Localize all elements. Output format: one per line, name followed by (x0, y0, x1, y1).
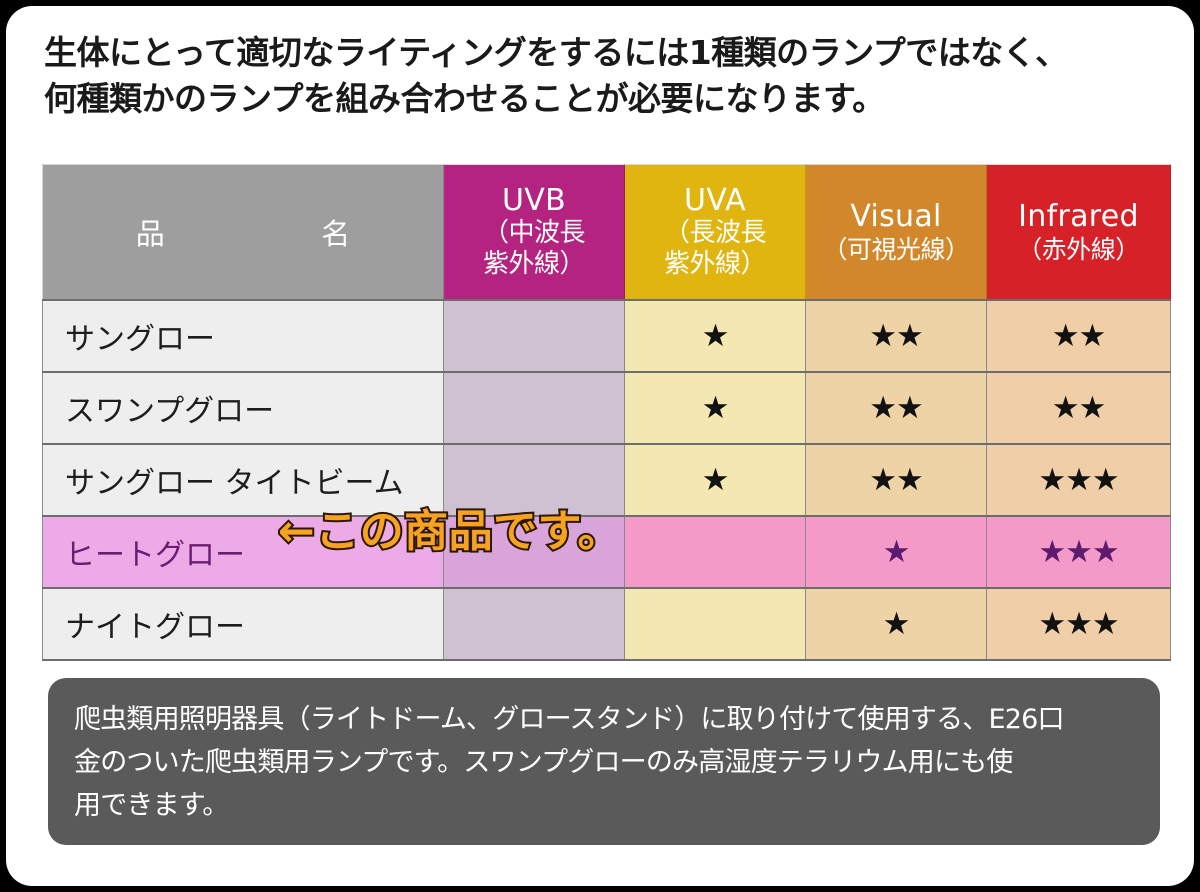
uva-rating-cell (625, 588, 806, 660)
header-product-name: 品 名 (43, 165, 444, 301)
infrared-rating-cell: ★★★ (987, 516, 1171, 588)
header-uvb: UVB （中波長 紫外線） (444, 165, 625, 301)
header-uva-en: UVA (625, 184, 805, 218)
comparison-table-wrapper: 品 名 UVB （中波長 紫外線） UVA （長波長 紫外線） (42, 164, 1170, 661)
uvb-rating-cell (444, 444, 625, 516)
intro-line-2: 何種類かのランプを組み合わせることが必要になります。 (44, 76, 1074, 122)
header-row: 品 名 UVB （中波長 紫外線） UVA （長波長 紫外線） (43, 165, 1171, 301)
content-panel: 生体にとって適切なライティングをするには1種類のランプではなく、 何種類かのラン… (6, 6, 1194, 886)
header-uvb-jp-2: 紫外線） (444, 249, 624, 280)
visual-rating-cell: ★★ (806, 372, 987, 444)
star-rating: ★★★ (1038, 606, 1118, 642)
uva-rating-cell: ★ (625, 372, 806, 444)
visual-rating-cell: ★ (806, 516, 987, 588)
description-box: 爬虫類用照明器具（ライトドーム、グロースタンド）に取り付けて使用する、E26口 … (48, 678, 1160, 845)
product-name-cell: サングロー (43, 300, 444, 372)
header-product-name-label: 品 名 (72, 211, 414, 253)
header-infrared-en: Infrared (987, 200, 1170, 234)
infrared-rating-cell: ★★ (987, 372, 1171, 444)
star-rating: ★★ (1052, 390, 1106, 426)
visual-rating-cell: ★ (806, 588, 987, 660)
visual-rating-cell: ★★ (806, 300, 987, 372)
intro-line-1: 生体にとって適切なライティングをするには1種類のランプではなく、 (44, 30, 1074, 76)
description-line-1: 爬虫類用照明器具（ライトドーム、グロースタンド）に取り付けて使用する、E26口 (74, 698, 1134, 741)
uva-rating-cell: ★ (625, 444, 806, 516)
header-visual: Visual （可視光線） (806, 165, 987, 301)
uva-rating-cell: ★ (625, 300, 806, 372)
star-rating: ★★ (869, 390, 923, 426)
product-name-cell: スワンプグロー (43, 372, 444, 444)
uvb-rating-cell (444, 588, 625, 660)
infrared-rating-cell: ★★★ (987, 588, 1171, 660)
uva-rating-cell (625, 516, 806, 588)
product-name-cell: ナイトグロー (43, 588, 444, 660)
uvb-rating-cell (444, 300, 625, 372)
image-frame: 生体にとって適切なライティングをするには1種類のランプではなく、 何種類かのラン… (0, 0, 1200, 892)
header-uva-jp-2: 紫外線） (625, 249, 805, 280)
intro-text: 生体にとって適切なライティングをするには1種類のランプではなく、 何種類かのラン… (44, 30, 1074, 122)
product-name-cell: サングロー タイトビーム (43, 444, 444, 516)
star-rating: ★★ (869, 318, 923, 354)
uvb-rating-cell (444, 516, 625, 588)
header-uva: UVA （長波長 紫外線） (625, 165, 806, 301)
star-rating: ★ (883, 534, 910, 570)
comparison-table: 品 名 UVB （中波長 紫外線） UVA （長波長 紫外線） (42, 164, 1171, 661)
header-uvb-en: UVB (444, 184, 624, 218)
header-visual-jp-1: （可視光線） (806, 234, 986, 265)
table-row: ナイトグロー★★★★ (43, 588, 1171, 660)
table-row: スワンプグロー★★★★★ (43, 372, 1171, 444)
table-body: サングロー★★★★★スワンプグロー★★★★★サングロー タイトビーム★★★★★★… (43, 300, 1171, 660)
table-row: ヒートグロー★★★★ (43, 516, 1171, 588)
star-rating: ★ (702, 390, 729, 426)
infrared-rating-cell: ★★ (987, 300, 1171, 372)
header-infrared: Infrared （赤外線） (987, 165, 1171, 301)
header-visual-en: Visual (806, 200, 986, 234)
star-rating: ★★ (869, 462, 923, 498)
header-infrared-jp-1: （赤外線） (987, 234, 1170, 265)
star-rating: ★★★ (1038, 462, 1118, 498)
header-uvb-jp-1: （中波長 (444, 218, 624, 249)
table-row: サングロー タイトビーム★★★★★★ (43, 444, 1171, 516)
table-row: サングロー★★★★★ (43, 300, 1171, 372)
star-rating: ★★★ (1038, 534, 1118, 570)
header-uva-jp-1: （長波長 (625, 218, 805, 249)
star-rating: ★ (702, 318, 729, 354)
uvb-rating-cell (444, 372, 625, 444)
star-rating: ★ (883, 606, 910, 642)
description-line-3: 用できます。 (74, 784, 1134, 827)
product-name-cell: ヒートグロー (43, 516, 444, 588)
visual-rating-cell: ★★ (806, 444, 987, 516)
description-line-2: 金のついた爬虫類用ランプです。スワンプグローのみ高湿度テラリウム用にも使 (74, 741, 1134, 784)
star-rating: ★★ (1052, 318, 1106, 354)
infrared-rating-cell: ★★★ (987, 444, 1171, 516)
table-header: 品 名 UVB （中波長 紫外線） UVA （長波長 紫外線） (43, 165, 1171, 301)
star-rating: ★ (702, 462, 729, 498)
